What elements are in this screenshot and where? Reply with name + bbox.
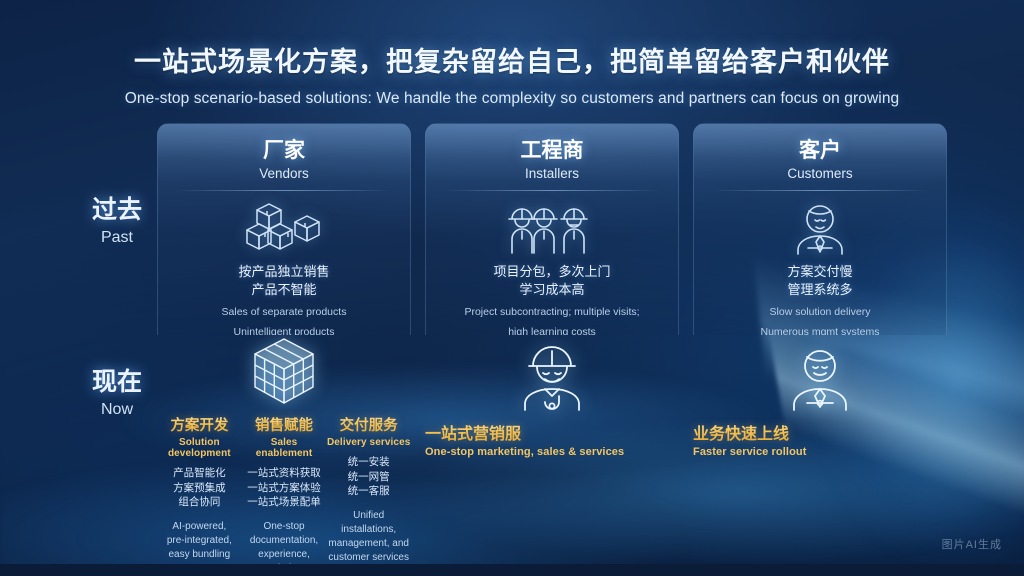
row-label-past-cn: 过去: [62, 190, 172, 226]
now-detail-en-2: pre-integrated,: [157, 534, 242, 548]
now-detail-cn-2: 方案预集成: [157, 481, 242, 496]
card-installers-past-cn-2: 学习成本高: [426, 281, 678, 299]
now-installers-heading-en: One-stop marketing, sales & services: [425, 446, 679, 458]
card-installers-title-en: Installers: [426, 166, 678, 181]
row-label-now-en: Now: [62, 401, 172, 419]
card-customers-past-en-2: Numerous mgmt systems: [694, 325, 946, 335]
divider: [444, 190, 660, 191]
happy-businessperson-icon: [693, 340, 947, 412]
businessperson-icon: [694, 201, 946, 257]
now-row: 方案开发 Solution development 产品智能化 方案预集成 组合…: [157, 340, 947, 555]
card-vendors-past-en-2: Unintelligent products: [158, 325, 410, 335]
now-detail-en-1: AI-powered,: [157, 520, 242, 534]
now-detail-cn-3: 一站式场景配单: [242, 495, 327, 510]
card-customers-body: 方案交付慢 管理系统多 Slow solution delivery Numer…: [694, 263, 946, 335]
card-vendors-header: 厂家 Vendors: [158, 124, 410, 181]
card-customers-title-en: Customers: [694, 166, 946, 181]
worker-group-icon: [426, 201, 678, 257]
card-customers-past-en-1: Slow solution delivery: [694, 305, 946, 319]
now-heading-en: Sales enablement: [242, 437, 327, 459]
card-customers-header: 客户 Customers: [694, 124, 946, 181]
now-heading-en: Delivery services: [326, 437, 411, 448]
now-detail-cn-1: 一站式资料获取: [242, 466, 327, 481]
card-installers-past-en-1: Project subcontracting; multiple visits;: [426, 305, 678, 319]
now-heading-en: Solution development: [157, 437, 242, 459]
now-detail-cn-1: 产品智能化: [157, 466, 242, 481]
card-installers-title-cn: 工程商: [426, 134, 678, 164]
now-block-delivery-services[interactable]: 交付服务 Delivery services 统一安装 统一网管 统一客服 Un…: [326, 340, 411, 555]
now-installers[interactable]: 一站式营销服 One-stop marketing, sales & servi…: [425, 340, 679, 555]
row-label-now-cn: 现在: [62, 362, 172, 398]
now-installers-heading-cn: 一站式营销服: [425, 420, 679, 444]
card-installers-header: 工程商 Installers: [426, 124, 678, 181]
now-detail-en-2: documentation,: [242, 534, 327, 548]
now-detail-en-1: Unified installations,: [326, 509, 411, 537]
card-customers-past-cn-1: 方案交付慢: [694, 263, 946, 281]
card-installers-past-en-2: high learning costs: [426, 325, 678, 335]
now-detail-cn-1: 统一安装: [326, 455, 411, 470]
card-vendors-body: 按产品独立销售 产品不智能 Sales of separate products…: [158, 263, 410, 335]
card-installers[interactable]: 工程商 Installers: [425, 123, 679, 335]
divider: [176, 190, 392, 191]
now-detail-cn-2: 统一网管: [326, 470, 411, 485]
card-vendors-past-cn-1: 按产品独立销售: [158, 263, 410, 281]
slide-header: 一站式场景化方案，把复杂留给自己，把简单留给客户和伙伴 One-stop sce…: [0, 0, 1024, 108]
row-label-now: 现在 Now: [62, 362, 172, 419]
card-customers-past-cn-2: 管理系统多: [694, 281, 946, 299]
card-installers-body: 项目分包，多次上门 学习成本高 Project subcontracting; …: [426, 263, 678, 335]
now-customers[interactable]: 业务快速上线 Faster service rollout: [693, 340, 947, 555]
watermark-label: 图片AI生成: [942, 536, 1002, 552]
now-vendors: 方案开发 Solution development 产品智能化 方案预集成 组合…: [157, 340, 411, 555]
now-detail-en-3: customer services: [326, 551, 411, 565]
card-vendors-title-cn: 厂家: [158, 134, 410, 164]
now-heading-cn: 交付服务: [326, 414, 411, 435]
now-customers-heading-cn: 业务快速上线: [693, 420, 947, 444]
card-vendors-past-cn-2: 产品不智能: [158, 281, 410, 299]
now-detail-cn-2: 一站式方案体验: [242, 481, 327, 496]
past-card-row: 厂家 Vendors 按产品独立销售 产品不智能 Sales of separa…: [157, 123, 947, 335]
stacked-boxes-icon: [158, 201, 410, 257]
card-installers-past-cn-1: 项目分包，多次上门: [426, 263, 678, 281]
card-customers-title-cn: 客户: [694, 134, 946, 164]
card-customers[interactable]: 客户 Customers 方案交付慢 管理系统多 Slow solution: [693, 123, 947, 335]
row-label-past: 过去 Past: [62, 190, 172, 247]
now-detail-cn-3: 统一客服: [326, 484, 411, 499]
card-vendors[interactable]: 厂家 Vendors 按产品独立销售 产品不智能 Sales of separa…: [157, 123, 411, 335]
now-detail-en-1: One-stop: [242, 520, 327, 534]
card-vendors-title-en: Vendors: [158, 166, 410, 181]
page-title-en: One-stop scenario-based solutions: We ha…: [0, 90, 1024, 108]
now-detail-cn-3: 组合协同: [157, 495, 242, 510]
page-title-cn: 一站式场景化方案，把复杂留给自己，把简单留给客户和伙伴: [0, 40, 1024, 79]
now-customers-heading-en: Faster service rollout: [693, 446, 947, 458]
card-vendors-past-en-1: Sales of separate products: [158, 305, 410, 319]
now-heading-cn: 销售赋能: [242, 414, 327, 435]
happy-worker-icon: [425, 340, 679, 412]
slide-canvas: 一站式场景化方案，把复杂留给自己，把简单留给客户和伙伴 One-stop sce…: [0, 0, 1024, 576]
now-detail-en-2: management, and: [326, 537, 411, 551]
bottom-bar: [0, 564, 1024, 576]
divider: [712, 190, 928, 191]
now-detail-en-3: easy bundling: [157, 548, 242, 562]
row-label-past-en: Past: [62, 229, 172, 247]
modular-cube-icon: [250, 336, 318, 408]
